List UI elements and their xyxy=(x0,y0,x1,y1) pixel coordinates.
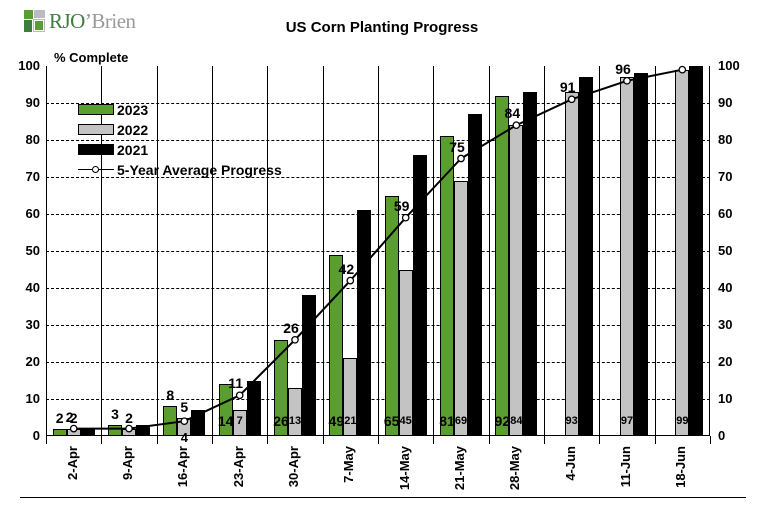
label-2023-16-Apr: 8 xyxy=(166,388,174,402)
y-axis-tick-label: 100 xyxy=(6,59,40,72)
x-axis-tick-mark xyxy=(710,436,711,444)
label-2023-9-Apr: 3 xyxy=(111,407,119,421)
x-axis-tick-mark xyxy=(433,436,434,444)
y-axis-tick-label-right: 80 xyxy=(718,133,752,146)
x-axis-tick-mark xyxy=(212,436,213,444)
label-2022-14-May: 45 xyxy=(400,416,412,427)
y-axis-tick-label-right: 10 xyxy=(718,392,752,405)
five-year-average-marker-30-Apr xyxy=(292,337,298,343)
x-axis-tick-label: 9-Apr xyxy=(121,446,134,480)
label-2023-14-May: 65 xyxy=(384,414,400,428)
five-year-average-marker-14-May xyxy=(403,215,409,221)
plot-border-bottom xyxy=(46,435,710,436)
label-2022-7-May: 21 xyxy=(344,416,356,427)
legend-label: 2023 xyxy=(117,103,148,117)
chart-title: US Corn Planting Progress xyxy=(0,19,764,36)
y-axis-tick-label-right: 70 xyxy=(718,170,752,183)
five-year-average-marker-9-Apr xyxy=(126,425,132,431)
label-2023-28-May: 92 xyxy=(495,414,511,428)
legend-item-2021: 2021 xyxy=(78,140,282,159)
legend-swatch-icon xyxy=(78,124,114,135)
x-axis-tick-mark xyxy=(157,436,158,444)
label-2022-28-May: 84 xyxy=(510,416,522,427)
x-axis-tick-mark xyxy=(544,436,545,444)
legend-label: 2021 xyxy=(117,143,148,157)
label-5yr-avg-30-Apr: 26 xyxy=(283,321,299,335)
x-axis-tick-label: 7-May xyxy=(342,446,355,483)
legend-label: 2022 xyxy=(117,123,148,137)
label-2022-4-Jun: 93 xyxy=(566,416,578,427)
x-axis-tick-label: 16-Apr xyxy=(176,446,189,487)
five-year-average-marker-7-May xyxy=(347,277,353,283)
x-axis-tick-label: 30-Apr xyxy=(287,446,300,487)
y-axis-tick-label: 50 xyxy=(6,244,40,257)
chart-legend: 2023202220215-Year Average Progress xyxy=(78,100,282,180)
legend-item-2023: 2023 xyxy=(78,100,282,119)
x-axis-tick-mark xyxy=(655,436,656,444)
y-axis-tick-label: 40 xyxy=(6,281,40,294)
plot-border-right xyxy=(709,66,710,436)
label-5yr-avg-4-Jun: 91 xyxy=(560,80,576,94)
legend-swatch-icon xyxy=(78,104,114,115)
y-axis-tick-label-right: 100 xyxy=(718,59,752,72)
label-5yr-avg-2-Apr: 2 xyxy=(66,410,74,424)
label-5yr-avg-7-May: 42 xyxy=(339,262,355,276)
x-axis-tick-label: 4-Jun xyxy=(564,446,577,481)
x-axis-tick-mark xyxy=(101,436,102,444)
legend-item-2022: 2022 xyxy=(78,120,282,139)
five-year-average-marker-21-May xyxy=(458,155,464,161)
x-axis-tick-mark xyxy=(267,436,268,444)
y-axis-tick-label-right: 60 xyxy=(718,207,752,220)
y-axis-tick-label: 20 xyxy=(6,355,40,368)
x-axis-tick-label: 2-Apr xyxy=(66,446,79,480)
label-2023-2-Apr: 2 xyxy=(56,411,64,425)
x-axis-tick-label: 28-May xyxy=(508,446,521,490)
x-axis-tick-label: 21-May xyxy=(453,446,466,490)
legend-item-5-year-average-progress: 5-Year Average Progress xyxy=(78,160,282,179)
y-axis-tick-label-right: 20 xyxy=(718,355,752,368)
y-axis-tick-label-right: 50 xyxy=(718,244,752,257)
x-axis-baseline xyxy=(20,497,746,498)
five-year-average-marker-16-Apr xyxy=(181,418,187,424)
five-year-average-marker-2-Apr xyxy=(71,425,77,431)
label-2023-7-May: 49 xyxy=(329,414,345,428)
y-axis-caption: % Complete xyxy=(54,50,128,65)
label-2023-21-May: 81 xyxy=(439,414,455,428)
y-axis-tick-label: 10 xyxy=(6,392,40,405)
label-2022-30-Apr: 13 xyxy=(289,416,301,427)
y-axis-tick-label: 0 xyxy=(6,429,40,442)
y-axis-tick-label: 60 xyxy=(6,207,40,220)
x-axis-tick-label: 14-May xyxy=(398,446,411,490)
label-5yr-avg-23-Apr: 11 xyxy=(228,376,243,390)
five-year-average-marker-23-Apr xyxy=(237,392,243,398)
x-axis-tick-label: 23-Apr xyxy=(232,446,245,487)
y-axis-tick-label: 80 xyxy=(6,133,40,146)
five-year-average-marker-11-Jun xyxy=(624,78,630,84)
label-2022-18-Jun: 99 xyxy=(676,416,688,427)
label-2023-23-Apr: 14 xyxy=(218,414,234,428)
legend-line-marker-icon xyxy=(78,164,114,175)
y-axis-tick-label-right: 90 xyxy=(718,96,752,109)
x-axis-tick-label: 18-Jun xyxy=(674,446,687,488)
y-axis-tick-label-right: 0 xyxy=(718,429,752,442)
label-5yr-avg-14-May: 59 xyxy=(394,199,410,213)
y-axis-tick-label: 70 xyxy=(6,170,40,183)
x-axis-tick-mark xyxy=(323,436,324,444)
legend-label: 5-Year Average Progress xyxy=(117,163,282,177)
x-axis-tick-mark xyxy=(378,436,379,444)
x-axis-tick-mark xyxy=(46,436,47,444)
legend-swatch-icon xyxy=(78,144,114,155)
label-2022-21-May: 69 xyxy=(455,416,467,427)
five-year-average-marker-4-Jun xyxy=(569,96,575,102)
label-2023-30-Apr: 26 xyxy=(273,414,289,428)
y-axis-tick-label: 30 xyxy=(6,318,40,331)
label-5yr-avg-16-Apr: 4 xyxy=(181,431,188,444)
label-2022-16-Apr: 5 xyxy=(180,400,188,414)
label-2022-23-Apr: 7 xyxy=(237,416,243,427)
label-5yr-avg-11-Jun: 96 xyxy=(615,62,631,76)
y-axis-tick-label: 90 xyxy=(6,96,40,109)
x-axis-tick-mark xyxy=(489,436,490,444)
label-2022-9-Apr: 2 xyxy=(125,411,133,425)
y-axis-tick-label-right: 40 xyxy=(718,281,752,294)
plot-border-left xyxy=(46,66,47,436)
five-year-average-marker-18-Jun xyxy=(679,67,685,73)
label-5yr-avg-28-May: 84 xyxy=(505,106,521,120)
y-axis-tick-label-right: 30 xyxy=(718,318,752,331)
five-year-average-marker-28-May xyxy=(513,122,519,128)
label-5yr-avg-21-May: 75 xyxy=(449,140,465,154)
label-2022-11-Jun: 97 xyxy=(621,416,633,427)
x-axis-tick-mark xyxy=(599,436,600,444)
x-axis-tick-label: 11-Jun xyxy=(619,446,632,487)
